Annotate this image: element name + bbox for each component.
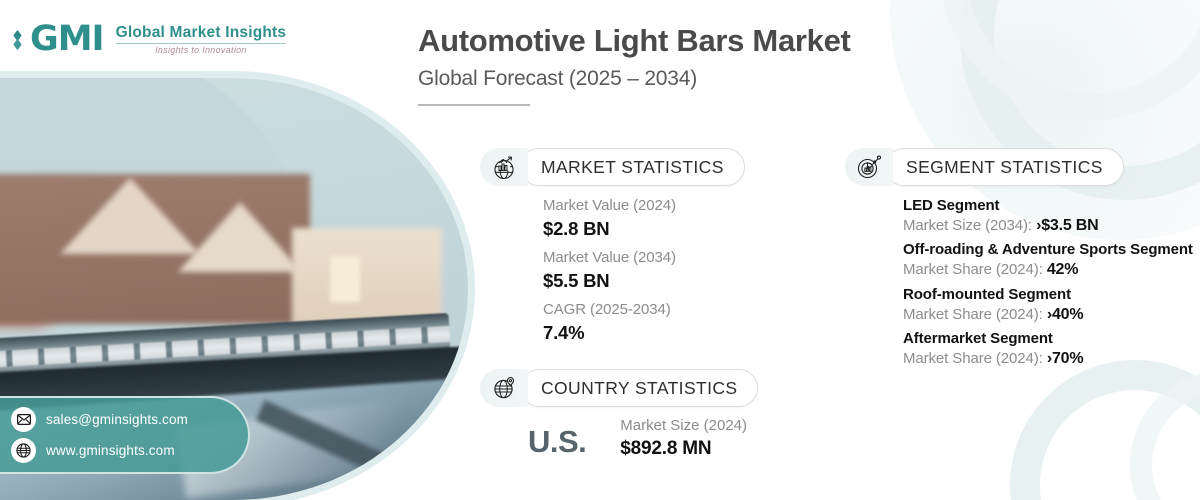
globe-bar-chart-icon	[480, 148, 528, 186]
title-underline	[418, 104, 530, 106]
logo-mark-text: GMI	[30, 22, 104, 57]
market-stat-value: $5.5 BN	[543, 269, 745, 292]
market-stat-value: 7.4%	[543, 321, 745, 344]
envelope-icon	[11, 407, 36, 432]
logo-diamond-icon	[14, 32, 21, 48]
market-statistics-body: Market Value (2024) $2.8 BN Market Value…	[543, 197, 745, 344]
market-statistics-pill: MARKET STATISTICS	[520, 148, 745, 186]
logo-company-name: Global Market Insights	[116, 24, 287, 41]
market-statistics-heading: MARKET STATISTICS	[541, 157, 724, 178]
country-metric-label: Market Size (2024)	[620, 417, 747, 436]
segment-item: LED Segment Market Size (2034): ›$3.5 BN	[903, 196, 1195, 236]
globe-pin-icon	[480, 369, 528, 407]
country-statistics-panel: COUNTRY STATISTICS U.S. Market Size (202…	[480, 369, 758, 461]
contact-website-text: www.gminsights.com	[46, 443, 175, 458]
country-statistics-body: U.S. Market Size (2024) $892.8 MN	[528, 417, 758, 461]
page-title: Automotive Light Bars Market	[418, 24, 851, 59]
logo-wordmark: Global Market Insights Insights to Innov…	[116, 24, 287, 55]
segment-metric-label: Market Share (2024):	[903, 261, 1047, 278]
contact-badge: sales@gminsights.com www.gminsights.com	[0, 396, 250, 474]
segment-statistics-body: LED Segment Market Size (2034): ›$3.5 BN…	[903, 196, 1195, 369]
market-stat-label: Market Value (2034)	[543, 249, 745, 268]
segment-name: Roof-mounted Segment	[903, 285, 1195, 304]
segment-item: Roof-mounted Segment Market Share (2024)…	[903, 285, 1195, 325]
segment-metric-label: Market Share (2024):	[903, 350, 1047, 367]
market-statistics-header: MARKET STATISTICS	[480, 148, 745, 186]
country-statistics-heading: COUNTRY STATISTICS	[541, 378, 737, 399]
contact-website-row[interactable]: www.gminsights.com	[11, 438, 234, 463]
segment-statistics-heading: SEGMENT STATISTICS	[906, 157, 1103, 178]
segment-metric-value: 42%	[1047, 261, 1078, 278]
decorative-arc-bottom-right-outer	[1010, 360, 1200, 500]
segment-metric-line: Market Share (2024): ›70%	[903, 348, 1195, 369]
segment-metric-value: ›70%	[1047, 350, 1084, 367]
market-stat-row: Market Value (2024) $2.8 BN	[543, 197, 745, 240]
segment-name: Off-roading & Adventure Sports Segment	[903, 240, 1195, 259]
photo-gable-center	[178, 202, 302, 272]
contact-email-text: sales@gminsights.com	[46, 412, 188, 427]
globe-icon	[11, 438, 36, 463]
market-statistics-panel: MARKET STATISTICS Market Value (2024) $2…	[480, 148, 745, 353]
country-statistics-header: COUNTRY STATISTICS	[480, 369, 758, 407]
contact-email-row[interactable]: sales@gminsights.com	[11, 407, 234, 432]
market-stat-row: CAGR (2025-2034) 7.4%	[543, 301, 745, 344]
page-subtitle: Global Forecast (2025 – 2034)	[418, 67, 851, 91]
segment-metric-line: Market Size (2034): ›$3.5 BN	[903, 215, 1195, 236]
decorative-arc-top-right-inner	[940, 0, 1200, 120]
segment-statistics-panel: SEGMENT STATISTICS LED Segment Market Si…	[845, 148, 1195, 373]
segment-metric-label: Market Share (2024):	[903, 306, 1047, 323]
segment-metric-label: Market Size (2034):	[903, 217, 1036, 234]
photo-window	[330, 256, 360, 302]
segment-metric-value: ›$3.5 BN	[1036, 217, 1098, 234]
segment-metric-line: Market Share (2024): 42%	[903, 259, 1195, 280]
segment-statistics-header: SEGMENT STATISTICS	[845, 148, 1195, 186]
donut-chart-target-icon	[845, 148, 893, 186]
infographic-canvas: sales@gminsights.com www.gminsights.com …	[0, 0, 1200, 500]
country-name: U.S.	[528, 426, 586, 461]
market-stat-value: $2.8 BN	[543, 217, 745, 240]
segment-statistics-pill: SEGMENT STATISTICS	[885, 148, 1124, 186]
segment-name: Aftermarket Segment	[903, 329, 1195, 348]
brand-logo[interactable]: GMI Global Market Insights Insights to I…	[14, 22, 286, 57]
logo-tagline: Insights to Innovation	[116, 45, 287, 55]
country-metric: Market Size (2024) $892.8 MN	[620, 417, 747, 461]
country-metric-value: $892.8 MN	[620, 437, 747, 461]
segment-metric-line: Market Share (2024): ›40%	[903, 304, 1195, 325]
country-statistics-pill: COUNTRY STATISTICS	[520, 369, 758, 407]
segment-name: LED Segment	[903, 196, 1195, 215]
segment-metric-value: ›40%	[1047, 306, 1084, 323]
market-stat-label: Market Value (2024)	[543, 197, 745, 216]
title-block: Automotive Light Bars Market Global Fore…	[418, 24, 851, 106]
segment-item: Off-roading & Adventure Sports Segment M…	[903, 240, 1195, 280]
market-stat-row: Market Value (2034) $5.5 BN	[543, 249, 745, 292]
decorative-arc-bottom-right-inner	[1130, 370, 1200, 500]
segment-item: Aftermarket Segment Market Share (2024):…	[903, 329, 1195, 369]
logo-divider	[116, 43, 287, 44]
market-stat-label: CAGR (2025-2034)	[543, 301, 745, 320]
